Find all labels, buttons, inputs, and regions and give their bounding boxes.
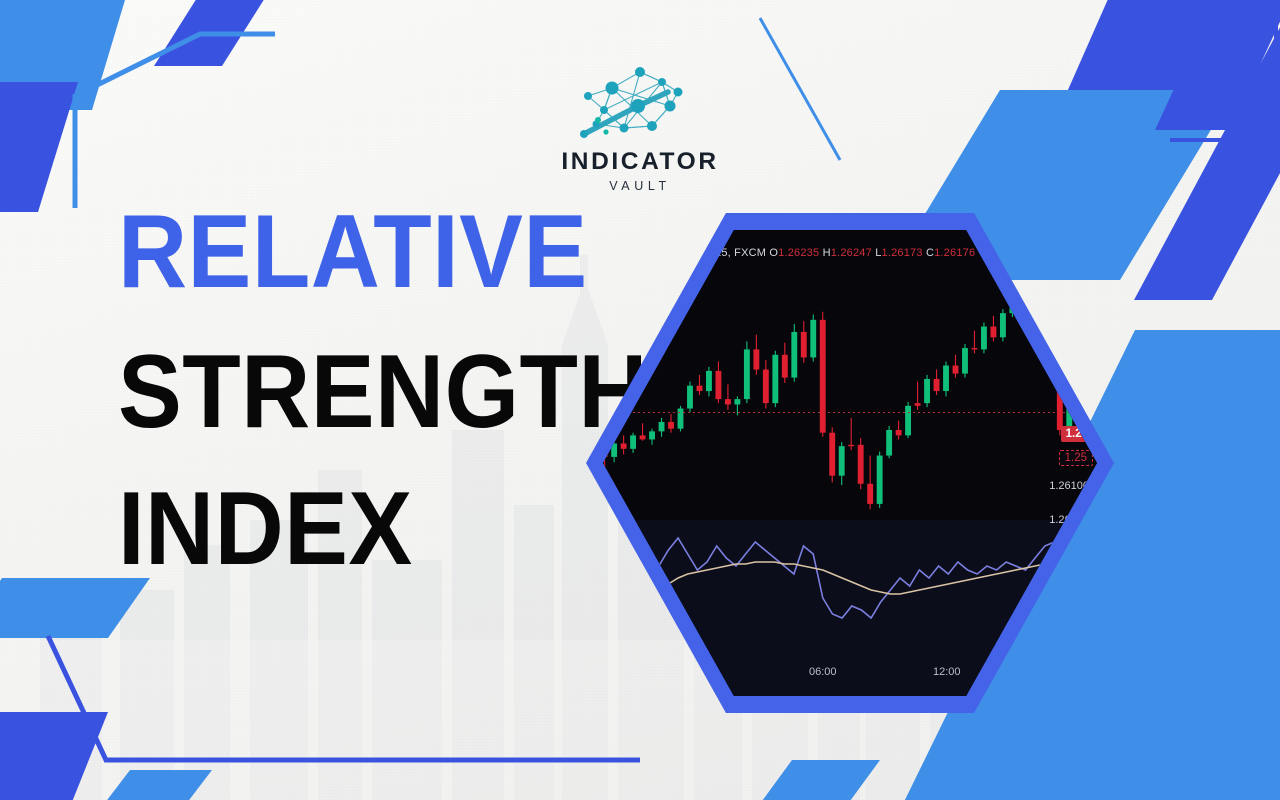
title-line-strength: STRENGTH: [118, 345, 550, 441]
rsi-level-70: 70.0: [1070, 544, 1091, 556]
brand-logo: INDICATOR VAULT: [540, 62, 740, 192]
ticker-change-pct: (-0: [1027, 247, 1041, 259]
title-line-index: INDEX: [118, 482, 550, 578]
ticker-open-label: O: [769, 247, 778, 259]
ticker-close-label: C: [926, 247, 934, 259]
ghost-price-tag: 1.25: [1059, 450, 1093, 466]
ticker-high: 1.26247: [831, 247, 872, 259]
time-label-1200: 12:00: [933, 666, 961, 678]
ticker-high-label: H: [823, 247, 831, 259]
ticker-open: 1.26235: [778, 247, 819, 259]
logo-subtitle: VAULT: [540, 180, 740, 193]
price-scale: 1.26 1.25 1.26100 1.26050: [1017, 230, 1095, 696]
hexagon-chart-frame: 15, FXCM O1.26235 H1.26247 L1.26173 C1.2…: [586, 213, 1114, 713]
banner-stage: INDICATOR VAULT RELATIVE STRENGTH INDEX …: [0, 0, 1280, 800]
title-line-relative: RELATIVE: [118, 205, 550, 301]
page-title: RELATIVE STRENGTH INDEX: [118, 205, 588, 578]
network-node-graph-icon: [540, 62, 740, 148]
rsi-value-tag: 65: [1068, 560, 1093, 576]
time-label-0600: 06:00: [809, 666, 837, 678]
ticker-close: 1.26176: [934, 247, 975, 259]
trading-chart[interactable]: 15, FXCM O1.26235 H1.26247 L1.26173 C1.2…: [603, 230, 1097, 696]
ticker-low: 1.26173: [882, 247, 923, 259]
logo-wordmark: INDICATOR: [540, 150, 740, 175]
